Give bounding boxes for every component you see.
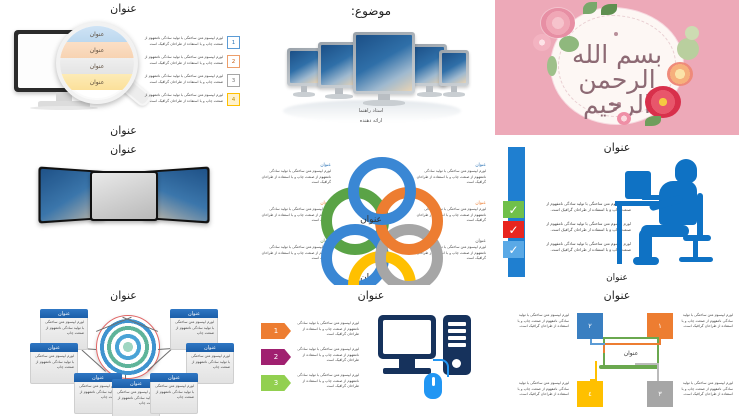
step-number: 3 [274,379,278,387]
check-box-icon-blue: ✓ [503,241,524,258]
flower-pink-small [533,34,551,51]
item-text: لورم ایپسوم متن ساختگی با تولید سادگی نا… [140,55,223,66]
flow-text-1: لورم ایپسوم متن ساختگی با تولید سادگی نا… [679,313,733,330]
callout-text: لورم ایپسوم متن ساختگی با تولید سادگی نا… [174,320,214,337]
list-item: 4 لورم ایپسوم متن ساختگی با تولید سادگی … [140,93,240,106]
callout-heading: عنوان [170,309,218,318]
list-item: 3 لورم ایپسوم متن ساختگی با تولید سادگی … [140,74,240,87]
power-button-icon [452,359,461,368]
item-heading: عنوان [412,163,486,168]
item-text: لورم ایپسوم متن ساختگی با تولید سادگی نا… [140,36,223,47]
step-chevron-2: 2 [261,349,291,365]
step-chevron-3: 3 [261,375,291,391]
flower-bud [617,112,631,125]
node-number: ٢ [588,322,592,330]
step-text-2: لورم ایپسوم متن ساختگی با تولید سادگی نا… [297,347,359,364]
callout-text: لورم ایپسوم متن ساختگی با تولید سادگی نا… [34,354,74,371]
callout-heading: عنوان [30,343,78,352]
list-item: 1 لورم ایپسوم متن ساختگی با تولید سادگی … [140,36,240,49]
panel-magnifier-bottom-title: عنوان [0,124,247,137]
callout-text: لورم ایپسوم متن ساختگی با تولید سادگی نا… [154,384,194,401]
panel-three-monitors: عنوان عنوان لورم ایپسوم متن ساختگی با تو… [0,139,247,285]
item-number-badge: 2 [227,55,240,68]
monitor-neck [399,359,415,368]
leaf-cluster [685,26,699,40]
ring-text-left-1: عنوان لورم ایپسوم متن ساختگی با تولید سا… [257,163,331,186]
check-box-icon-red: ✓ [503,221,524,238]
panel-chevrons: عنوان 1 لورم ایپسوم متن ساختگی با تولید … [247,285,495,416]
item-text: لورم ایپسوم متن ساختگی با تولید سادگی نا… [257,207,331,224]
panel-target: عنوان عنوان لورم ایپسوم متن ساختگی با تو… [0,285,247,416]
ring-text-left-3: عنوان لورم ایپسوم متن ساختگی با تولید سا… [257,239,331,262]
panel-target-title: عنوان [0,289,247,302]
flower-pink-large [541,8,575,38]
panel-checklist-title: عنوان [495,141,739,154]
item-text: لورم ایپسوم متن ساختگی با تولید سادگی نا… [140,93,223,104]
desktop-monitor-icon [378,315,436,359]
panel-flow-title: عنوان [495,289,739,302]
monitor-center [90,171,158,221]
step-text-3: لورم ایپسوم متن ساختگی با تولید سادگی نا… [297,373,359,390]
flow-text-3: لورم ایپسوم متن ساختگی با تولید سادگی نا… [679,381,733,398]
callout-heading: عنوان [40,309,88,318]
laptop-base [599,365,659,369]
callout-text: لورم ایپسوم متن ساختگی با تولید سادگی نا… [190,354,230,371]
check-box-icon-green: ✓ [503,201,524,218]
node-number: ١ [658,322,662,330]
slide-grid-canvas: عنوان عنوان عنوان عنوان عنوان 1 لورم ایپ… [0,0,739,416]
panel-flow: عنوان ١ لورم ایپسوم متن ساختگی با تولید … [495,285,739,416]
panel-rings: عنوان عنوان لورم ایپسوم متن ساختگی با تو… [247,139,495,285]
step-number: 2 [274,353,278,361]
flow-text-4: لورم ایپسوم متن ساختگی با تولید سادگی نا… [511,381,569,398]
item-number-badge: 4 [227,93,240,106]
flower-peach [667,62,693,86]
monitor-stand-shadow [30,106,98,110]
monitor-center [353,32,415,94]
callout-bottom-left: عنوان لورم ایپسوم متن ساختگی با تولید سا… [150,373,198,414]
callout-heading: عنوان [150,373,198,382]
monitor-far-right [439,50,469,86]
leaf-icon [645,116,661,126]
lens-band-4: عنوان [60,74,134,90]
person-at-computer-icon [613,157,733,277]
bullseye-target-icon [96,315,160,379]
flow-node-2: ٢ [577,313,603,339]
flow-node-1: ١ [647,313,673,339]
lens-band-2: عنوان [60,42,134,58]
mouse-icon [424,373,442,399]
panel-chevrons-title: عنوان [247,289,495,302]
item-heading: عنوان [257,163,331,168]
step-chevron-1: 1 [261,323,291,339]
item-number-badge: 3 [227,74,240,87]
item-text: لورم ایپسوم متن ساختگی با تولید سادگی نا… [412,169,486,186]
monitor-array-graphic [287,30,457,102]
presenter-label: ارائه دهنده [247,118,495,124]
ring-text-right-1: عنوان لورم ایپسوم متن ساختگی با تولید سا… [412,163,486,186]
item-text: لورم ایپسوم متن ساختگی با تولید سادگی نا… [257,169,331,186]
flow-node-3: ٣ [647,381,673,407]
callout-heading: عنوان [186,343,234,352]
subject-label: موضوع: [247,4,495,18]
item-heading: عنوان [257,239,331,244]
panel-bismillah: بسم الله الرحمن الرحیم [495,0,739,135]
flow-node-4: ٤ [577,381,603,407]
ornament-dot [614,32,618,36]
item-heading: عنوان [257,201,331,206]
lens-band-3: عنوان [60,58,134,74]
panel-three-monitors-title: عنوان [0,143,247,156]
item-number-badge: 1 [227,36,240,49]
ring-text-left-2: عنوان لورم ایپسوم متن ساختگی با تولید سا… [257,201,331,224]
rings-center-label: عنوان [346,215,396,225]
lens-band-1: عنوان [60,26,134,42]
panel-subject: موضوع: استاد راهنما ارائه دهنده [247,0,495,139]
callout-mid-right: عنوان لورم ایپسوم متن ساختگی با تولید سا… [30,343,78,384]
leaf-icon [547,56,557,76]
leaf-cluster [677,38,699,60]
monitor-far-left [287,48,321,86]
node-number: ٤ [588,390,592,398]
panel-checklist-bottom-title: عنوان [495,273,739,283]
panel-magnifier: عنوان عنوان عنوان عنوان عنوان 1 لورم ایپ… [0,0,247,139]
callout-text: لورم ایپسوم متن ساختگی با تولید سادگی نا… [44,320,84,337]
item-text: لورم ایپسوم متن ساختگی با تولید سادگی نا… [257,245,331,262]
flow-text-2: لورم ایپسوم متن ساختگی با تولید سادگی نا… [511,313,569,330]
monitor-base [383,368,431,374]
leaf-cluster [559,36,579,52]
advisor-label: استاد راهنما [247,108,495,114]
list-item: 2 لورم ایپسوم متن ساختگی با تولید سادگی … [140,55,240,68]
panel-checklist: عنوان ✓ لورم ایپسوم متن ساختگی با تولید … [495,139,739,285]
node-number: ٣ [658,390,662,398]
item-text: لورم ایپسوم متن ساختگی با تولید سادگی نا… [140,74,223,85]
magnifier-lens-icon: عنوان عنوان عنوان عنوان [56,22,138,104]
panel-magnifier-title: عنوان [0,2,247,15]
step-number: 1 [274,327,278,335]
flower-red-large [645,86,681,118]
step-text-1: لورم ایپسوم متن ساختگی با تولید سادگی نا… [297,321,359,338]
